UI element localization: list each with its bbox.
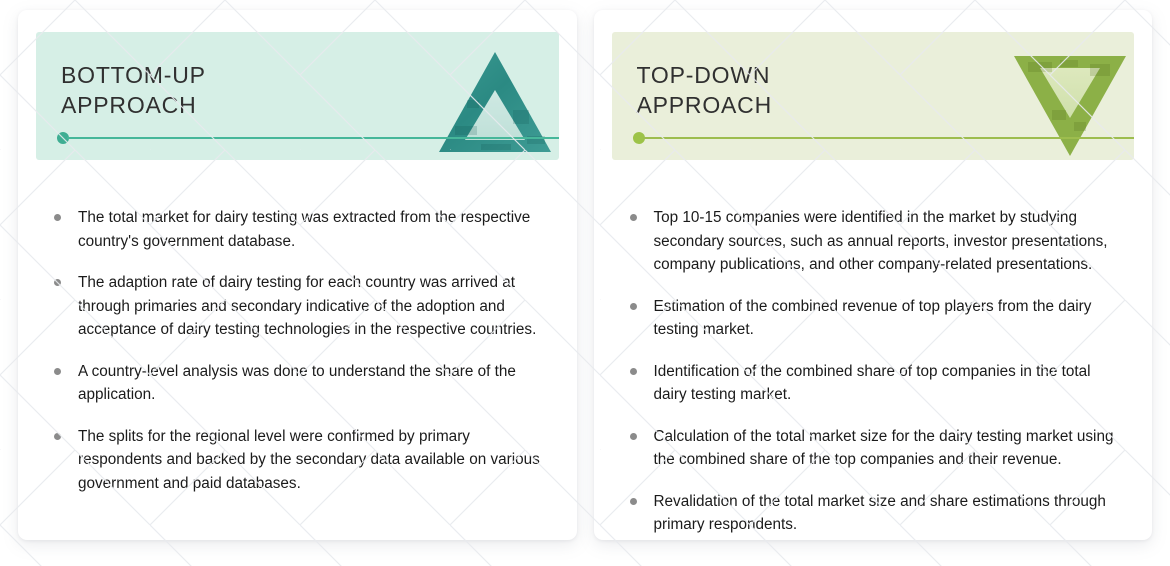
list-item-text: The splits for the regional level were c… (78, 428, 540, 492)
list-item-text: The total market for dairy testing was e… (78, 209, 530, 250)
panel-title-bottom-up: BOTTOM-UP APPROACH (61, 60, 206, 120)
list-item: The splits for the regional level were c… (48, 425, 551, 496)
list-item-text: Identification of the combined share of … (654, 363, 1091, 404)
rule-line (67, 137, 559, 139)
bullet-dot-icon (630, 433, 637, 440)
list-item-text: Calculation of the total market size for… (654, 428, 1114, 469)
list-item: The adaption rate of dairy testing for e… (48, 271, 551, 342)
bullet-dot-icon (630, 303, 637, 310)
rule-line (643, 137, 1135, 139)
bullet-dot-icon (630, 214, 637, 221)
panel-bottom-up: BOTTOM-UP APPROACH (18, 10, 577, 540)
bullet-dot-icon (54, 433, 61, 440)
bullet-dot-icon (630, 368, 637, 375)
list-item: Top 10-15 companies were identified in t… (624, 206, 1127, 277)
panel-header-bottom-up: BOTTOM-UP APPROACH (36, 32, 559, 160)
panel-title-top-down: TOP-DOWN APPROACH (637, 60, 772, 120)
header-rule-bottom-up (57, 132, 559, 144)
list-item-text: Estimation of the combined revenue of to… (654, 298, 1092, 339)
bullet-dot-icon (54, 214, 61, 221)
list-item-text: The adaption rate of dairy testing for e… (78, 274, 536, 338)
list-item-text: Revalidation of the total market size an… (654, 493, 1106, 534)
infographic-canvas: BOTTOM-UP APPROACH (0, 0, 1170, 566)
list-item: Estimation of the combined revenue of to… (624, 295, 1127, 342)
list-item: Calculation of the total market size for… (624, 425, 1127, 472)
panel-top-down: TOP-DOWN APPROACH (594, 10, 1153, 540)
bullet-dot-icon (54, 279, 61, 286)
list-item-text: A country-level analysis was done to und… (78, 363, 516, 404)
bullet-list-top-down: Top 10-15 companies were identified in t… (594, 160, 1153, 540)
list-item-text: Top 10-15 companies were identified in t… (654, 209, 1108, 273)
bullet-list-bottom-up: The total market for dairy testing was e… (18, 160, 577, 540)
list-item: Identification of the combined share of … (624, 360, 1127, 407)
panel-header-top-down: TOP-DOWN APPROACH (612, 32, 1135, 160)
list-item: Revalidation of the total market size an… (624, 490, 1127, 537)
bullet-dot-icon (630, 498, 637, 505)
bullet-dot-icon (54, 368, 61, 375)
list-item: The total market for dairy testing was e… (48, 206, 551, 253)
panel-container: BOTTOM-UP APPROACH (0, 0, 1170, 566)
list-item: A country-level analysis was done to und… (48, 360, 551, 407)
header-rule-top-down (633, 132, 1135, 144)
